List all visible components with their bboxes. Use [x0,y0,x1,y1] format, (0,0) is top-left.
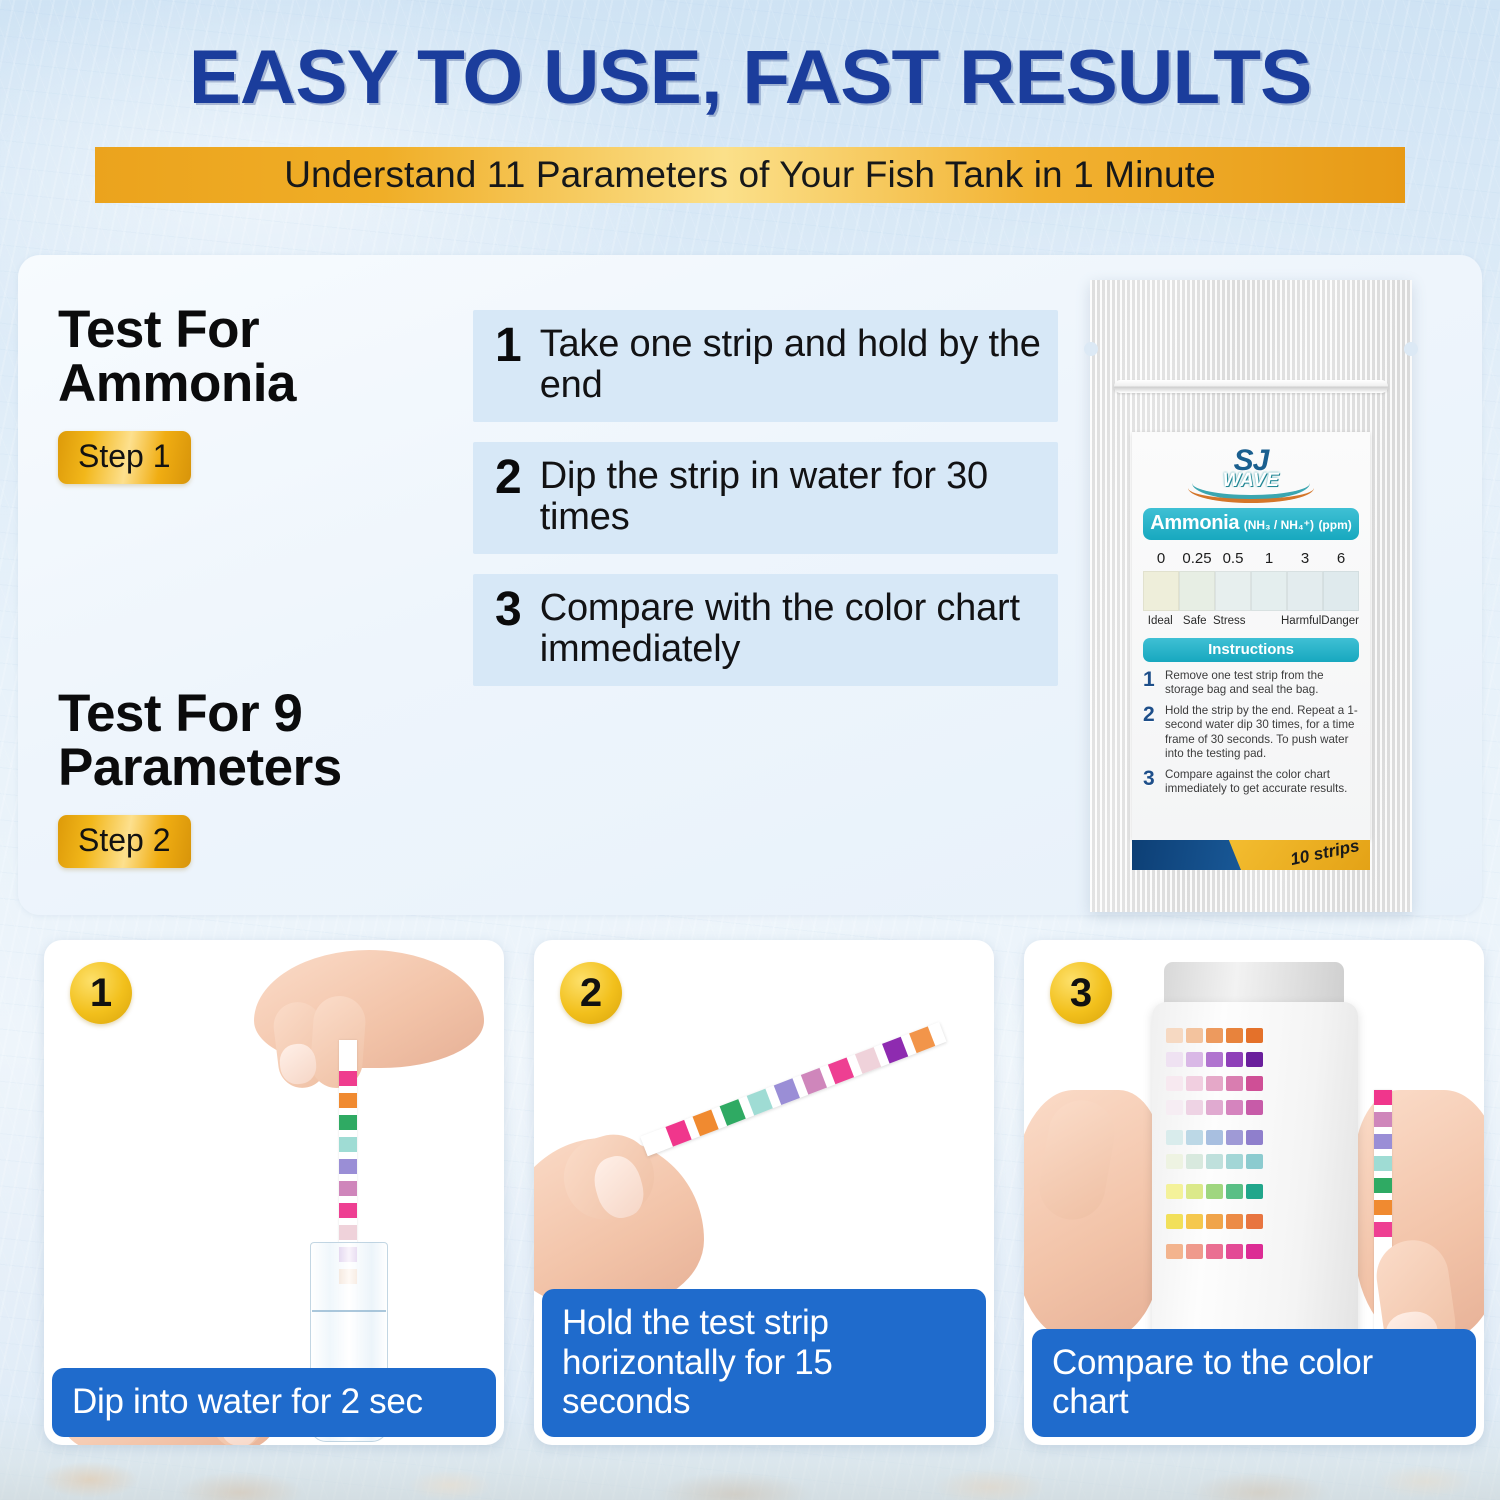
step-row: 1 Take one strip and hold by the end [473,310,1058,422]
photo-card: 3 [1024,940,1484,1445]
card-caption: Hold the test strip horizontally for 15 … [542,1289,986,1437]
pouch-label: SJ WAVE Ammonia (NH₃ / NH₄⁺) (ppm) 0 0.2… [1132,432,1370,840]
chart-column: 0.5 [1215,550,1251,611]
step-text: Take one strip and hold by the end [540,324,1042,406]
chart-swatch [1143,571,1179,611]
step-badge-2: Step 2 [58,815,191,868]
subtitle-banner: Understand 11 Parameters of Your Fish Ta… [95,147,1405,203]
step-text: Compare with the color chart immediately [540,588,1042,670]
card-caption: Compare to the color chart [1032,1329,1476,1437]
pouch-instruction-text: Hold the strip by the end. Repeat a 1-se… [1165,704,1359,761]
chart-value: 0.25 [1179,550,1215,567]
bottle-chart-row [1166,1130,1263,1145]
photo-card-row: 1 [44,940,1484,1445]
chart-level-label: Ideal [1143,615,1178,627]
pouch-instruction-number: 2 [1143,704,1159,761]
pouch-notch-right [1404,342,1418,356]
chart-swatch [1251,571,1287,611]
step-badge-1: Step 1 [58,431,191,484]
card-caption: Dip into water for 2 sec [52,1368,496,1437]
section-parameters: Test For 9 Parameters Step 2 [58,687,478,868]
header: EASY TO USE, FAST RESULTS Understand 11 … [0,34,1500,203]
finger [309,994,367,1089]
bottle-chart-row [1166,1154,1263,1169]
step-text: Dip the strip in water for 30 times [540,456,1042,538]
chart-column: 1 [1251,550,1287,611]
chart-column: 0 [1143,550,1179,611]
section-title-ammonia: Test For Ammonia [58,303,458,411]
step-row: 3 Compare with the color chart immediate… [473,574,1058,686]
ammonia-color-chart: 0 0.25 0.5 1 3 6 [1143,550,1359,611]
bottle-chart-row [1166,1052,1263,1067]
pouch-instruction-text: Compare against the color chart immediat… [1165,768,1359,796]
card-badge: 3 [1050,962,1112,1024]
chart-value: 0 [1143,550,1179,567]
bottle-chart-row [1166,1214,1263,1229]
pouch-instruction-number: 1 [1143,669,1159,697]
parameter-unit: (ppm) [1318,518,1351,532]
subtitle-text: Understand 11 Parameters of Your Fish Ta… [284,154,1216,196]
chart-value: 1 [1251,550,1287,567]
chart-column: 6 [1323,550,1359,611]
test-strip [640,1022,946,1156]
pouch-instruction-list: 1 Remove one test strip from the storage… [1143,669,1359,796]
chart-value: 6 [1323,550,1359,567]
chart-swatch [1323,571,1359,611]
step-number: 3 [495,588,522,633]
parameter-formula: (NH₃ / NH₄⁺) [1244,518,1314,532]
chart-level-labels: Ideal Safe Stress Harmful Danger [1143,615,1359,627]
chart-column: 0.25 [1179,550,1215,611]
pouch-instruction-row: 2 Hold the strip by the end. Repeat a 1-… [1143,704,1359,761]
photo-card: 1 [44,940,504,1445]
chart-column: 3 [1287,550,1323,611]
pouch-bottom-band: 10 strips [1132,840,1370,870]
photo-card: 2 Hold the test strip horizontally for 1… [534,940,994,1445]
bottle-chart-row [1166,1100,1263,1115]
chart-level-label: Safe [1178,615,1213,627]
card-badge: 2 [560,962,622,1024]
chart-level-label: Danger [1321,615,1359,627]
section-title-parameters: Test For 9 Parameters [58,687,478,795]
chart-value: 0.5 [1215,550,1251,567]
step-row: 2 Dip the strip in water for 30 times [473,442,1058,554]
pouch-zip-seal [1114,380,1388,393]
parameter-title-bar: Ammonia (NH₃ / NH₄⁺) (ppm) [1143,508,1359,540]
pouch-instruction-row: 1 Remove one test strip from the storage… [1143,669,1359,697]
pouch-instruction-row: 3 Compare against the color chart immedi… [1143,768,1359,796]
bottle-chart-row [1166,1076,1263,1091]
pouch-instruction-text: Remove one test strip from the storage b… [1165,669,1359,697]
chart-swatch [1287,571,1323,611]
page-title: EASY TO USE, FAST RESULTS [0,34,1500,121]
bottle-chart-row [1166,1244,1263,1259]
chart-level-label: Stress [1212,615,1247,627]
brand-logo: SJ WAVE [1143,446,1359,504]
water-line [312,1310,386,1312]
parameter-name: Ammonia [1150,512,1239,534]
step-list: 1 Take one strip and hold by the end 2 D… [473,310,1058,706]
bottle-chart-row [1166,1184,1263,1199]
card-badge: 1 [70,962,132,1024]
pouch-instruction-number: 3 [1143,768,1159,796]
chart-level-label [1247,615,1282,627]
bottle-chart-row [1166,1028,1263,1043]
chart-level-label: Harmful [1281,615,1321,627]
section-ammonia: Test For Ammonia Step 1 [58,303,458,484]
chart-value: 3 [1287,550,1323,567]
step-number: 1 [495,324,522,369]
brand-name-wave: WAVE [1143,470,1359,492]
step-number: 2 [495,456,522,501]
pouch-notch-left [1084,342,1098,356]
chart-swatch [1179,571,1215,611]
product-pouch: SJ WAVE Ammonia (NH₃ / NH₄⁺) (ppm) 0 0.2… [1090,280,1412,912]
chart-swatch [1215,571,1251,611]
instructions-heading: Instructions [1143,638,1359,662]
